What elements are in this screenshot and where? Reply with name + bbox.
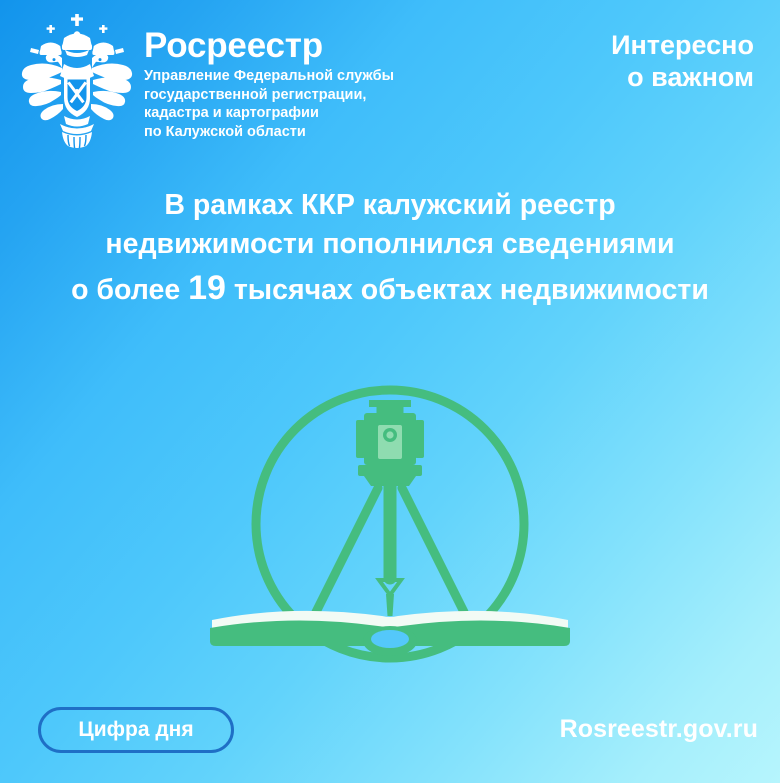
headline-line-3: о более 19 тысячах объектах недвижимости [6, 265, 774, 312]
plumb-bob-icon [379, 580, 401, 616]
brand-subtitle-line-1: Управление Федеральной службы [144, 67, 394, 86]
headline-line-2: недвижимости пополнился сведениями [6, 225, 774, 264]
brand-subtitle-line-4: по Калужской области [144, 123, 394, 142]
brand-subtitle-line-3: кадастра и картографии [144, 104, 394, 123]
brand-lockup: Росреестр Управление Федеральной службы … [18, 12, 394, 148]
headline-line-3-before: о более [71, 274, 188, 306]
headline-number: 19 [188, 269, 226, 307]
brand-title: Росреестр [144, 28, 394, 63]
kicker-label: Интересно о важном [611, 30, 754, 94]
headline-line-1: В рамках ККР калужский реестр [6, 186, 774, 225]
brand-text-block: Росреестр Управление Федеральной службы … [144, 12, 394, 141]
poster-header: Росреестр Управление Федеральной службы … [0, 0, 780, 160]
brand-subtitle: Управление Федеральной службы государств… [144, 67, 394, 141]
headline-line-3-after: тысячах объектах недвижимости [226, 274, 709, 306]
brand-subtitle-line-2: государственной регистрации, [144, 86, 394, 105]
website-url[interactable]: Rosreestr.gov.ru [560, 715, 758, 744]
theodolite-icon [356, 400, 424, 486]
rubric-badge[interactable]: Цифра дня [38, 707, 234, 753]
rosreestr-eagle-icon [18, 12, 136, 148]
kicker-line-1: Интересно [611, 30, 754, 62]
headline-block: В рамках ККР калужский реестр недвижимос… [0, 186, 780, 312]
poster-canvas: Росреестр Управление Федеральной службы … [0, 0, 780, 783]
theodolite-book-illustration [198, 368, 582, 668]
open-book-icon [210, 611, 570, 656]
kicker-line-2: о важном [611, 62, 754, 94]
rubric-badge-label: Цифра дня [78, 718, 193, 742]
